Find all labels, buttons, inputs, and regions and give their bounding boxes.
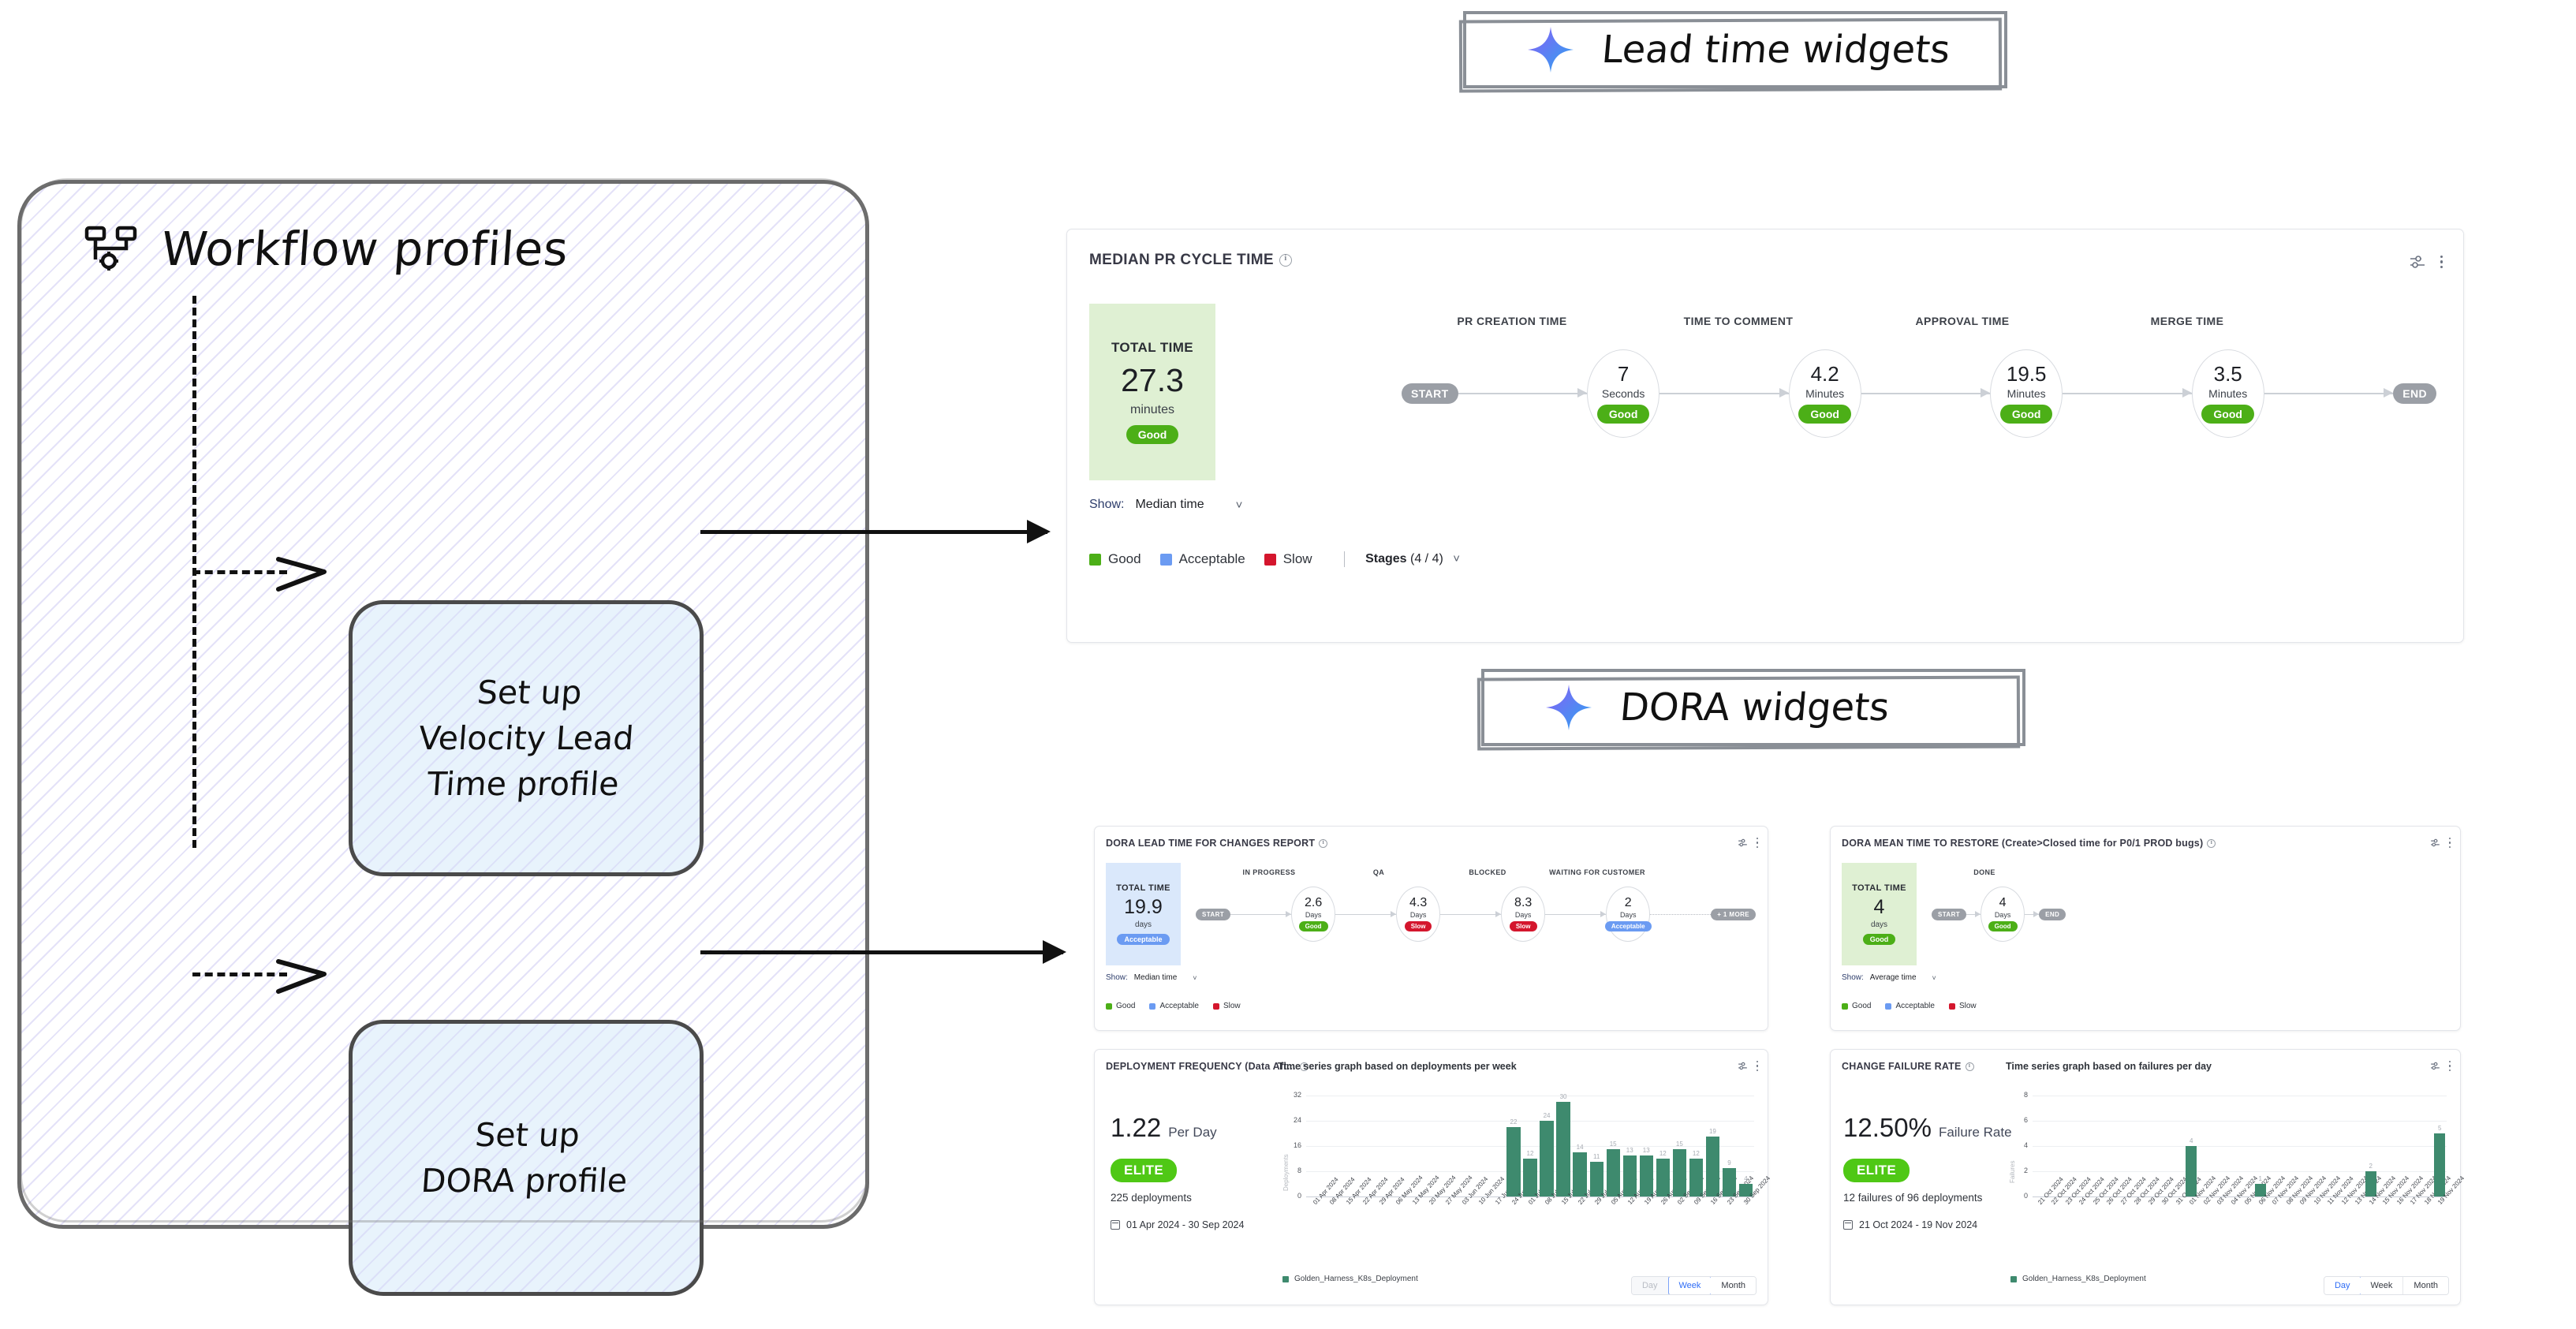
chart-bar-value: 11 [1593, 1153, 1600, 1160]
stage-status-badge: Slow [1405, 921, 1432, 931]
card-title-text: DORA LEAD TIME FOR CHANGES REPORT [1106, 838, 1315, 849]
show-selector[interactable]: Show: Median time ˅ [1106, 973, 1197, 982]
stage-status-badge: Acceptable [1605, 921, 1652, 931]
chart-bar-value: 9 [1727, 1159, 1730, 1167]
stage-value: 8.3 [1514, 897, 1532, 909]
card-title: CHANGE FAILURE RATE [1842, 1061, 1974, 1072]
show-label: Show: [1089, 498, 1124, 512]
sliders-icon[interactable] [2409, 253, 2426, 271]
chart-bar-value: 15 [1610, 1140, 1617, 1148]
stage-status-badge: Good [1597, 405, 1650, 424]
legend-label: Acceptable [1895, 1002, 1934, 1010]
card-header-actions [1738, 1061, 1758, 1071]
flow-connector [2264, 393, 2394, 394]
stage-value: 4.2 [1811, 364, 1839, 384]
change-failure-rate-chart: Failures 8642021 Oct 202422 Oct 202423 O… [2006, 1084, 2451, 1242]
chart-gridline [1306, 1146, 1754, 1147]
kebab-menu-icon[interactable] [2440, 256, 2443, 268]
chart-bar-value: 4 [1744, 1175, 1747, 1182]
profile-box-label: Set up Velocity Lead Time profile [414, 670, 639, 808]
legend-label: Acceptable [1179, 551, 1245, 567]
chevron-down-icon[interactable]: ˅ [1193, 974, 1197, 982]
sliders-icon[interactable] [1738, 838, 1748, 848]
status-legend: Good Acceptable Slow Stages (4 / 4) ˅ [1089, 551, 1460, 567]
chart-gridline [2033, 1171, 2447, 1172]
banner-label: Lead time widgets [1600, 28, 1952, 72]
arrow-head-2 [275, 950, 343, 998]
chart-ytick: 8 [2010, 1091, 2028, 1099]
sparkle-icon [1544, 683, 1593, 732]
calendar-icon [1843, 1220, 1853, 1230]
show-value: Median time [1135, 498, 1204, 512]
stages-toggle-count: (4 / 4) [1410, 552, 1443, 566]
chart-bar-value: 13 [1643, 1147, 1650, 1154]
stage-node-0[interactable]: 7 Seconds Good [1587, 349, 1659, 438]
chart-bar-value: 30 [1560, 1093, 1567, 1100]
stage-unit: Days [1995, 911, 2011, 919]
chart-ytick: 8 [1284, 1167, 1301, 1174]
performance-badge: ELITE [1111, 1159, 1177, 1182]
legend-swatch [1282, 1276, 1289, 1282]
card-title: DORA MEAN TIME TO RESTORE (Create>Closed… [1842, 838, 2216, 849]
date-range-text: 21 Oct 2024 - 19 Nov 2024 [1859, 1219, 1977, 1230]
legend-item-good: Good [1106, 1002, 1135, 1010]
connector-arrow-to-dora-widgets [700, 950, 1063, 954]
stage-unit: Days [1305, 911, 1322, 919]
chart-bar-value: 12 [1659, 1150, 1667, 1157]
workflow-profiles-panel: Workflow profiles Set up Velocity Lead T… [17, 180, 869, 1229]
range-button-week[interactable]: Week [2361, 1277, 2404, 1294]
legend-divider [1344, 551, 1346, 567]
chart-bar[interactable] [1556, 1102, 1570, 1196]
metric-unit: Per Day [1168, 1125, 1216, 1140]
chart-bar-value: 2 [2369, 1163, 2373, 1170]
stage-label-3: WAITING FOR CUSTOMER [1549, 868, 1645, 876]
chart-legend: Golden_Harness_K8s_Deployment [2010, 1275, 2146, 1283]
metric-failure-rate: 12.50% Failure Rate [1843, 1113, 2012, 1143]
chart-gridline [2033, 1146, 2447, 1147]
flow-connector-dotted [1650, 914, 1711, 915]
calendar-icon [1111, 1220, 1120, 1230]
info-icon[interactable] [2207, 839, 2216, 848]
change-failure-rate-card: CHANGE FAILURE RATE Time series graph ba… [1830, 1049, 2461, 1305]
card-title-text: DORA MEAN TIME TO RESTORE (Create>Closed… [1842, 838, 2203, 849]
stage-label-2: BLOCKED [1469, 868, 1506, 876]
stage-node-2[interactable]: 19.5 Minutes Good [1990, 349, 2063, 438]
flow-connector [1545, 914, 1606, 915]
chart-bar-value: 1 [2259, 1175, 2262, 1182]
total-time-value: 27.3 [1121, 362, 1184, 399]
flow-connector [1966, 914, 1981, 915]
stage-label-1: QA [1373, 868, 1384, 876]
chart-bar-value: 12 [1693, 1150, 1700, 1157]
dora-lead-time-card: DORA LEAD TIME FOR CHANGES REPORT TOTAL … [1094, 826, 1768, 1031]
start-terminal: START [1402, 383, 1458, 404]
total-time-box: TOTAL TIME 4 days Good [1842, 863, 1917, 965]
end-terminal: END [2393, 383, 2436, 404]
status-legend: Good Acceptable Slow [1106, 1002, 1247, 1010]
card-header-actions [1738, 838, 1758, 848]
chart-bar[interactable] [1706, 1137, 1719, 1196]
flow-connector [1230, 914, 1291, 915]
chart-bar-value: 12 [1527, 1150, 1534, 1157]
stage-node-0[interactable]: 4 Days Good [1981, 887, 2025, 942]
chart-bar[interactable] [1540, 1121, 1553, 1196]
chart-bar-value: 4 [2190, 1137, 2193, 1144]
stage-unit: Days [1620, 911, 1637, 919]
profile-box-dora[interactable]: Set up DORA profile [349, 1020, 704, 1296]
chart-bar-value: 5 [2438, 1125, 2441, 1132]
total-time-status-badge: Good [1126, 425, 1179, 444]
stage-unit: Minutes [2208, 387, 2247, 400]
stage-node-3[interactable]: 3.5 Minutes Good [2192, 349, 2264, 438]
chart-bar[interactable] [1623, 1155, 1637, 1196]
legend-swatch [1089, 554, 1101, 566]
chart-bar[interactable] [1640, 1155, 1653, 1196]
more-stages-chip[interactable]: + 1 MORE [1711, 909, 1756, 920]
stage-value: 4.3 [1409, 897, 1427, 909]
legend-label: Good [1852, 1002, 1871, 1010]
banner-lead-time-widgets: Lead time widgets [1463, 11, 2007, 88]
dashed-branch-line-2 [192, 972, 287, 976]
banner-dora-widgets: DORA widgets [1481, 669, 2025, 746]
stages-toggle[interactable]: Stages (4 / 4) ˅ [1365, 552, 1460, 566]
chart-ytick: 16 [1284, 1141, 1301, 1149]
stage-status-badge: Good [1988, 921, 2018, 931]
legend-swatch [1106, 1003, 1112, 1010]
deployment-count-note: 225 deployments [1111, 1192, 1192, 1204]
banner-label: DORA widgets [1618, 685, 1891, 730]
total-time-unit: days [1135, 920, 1152, 929]
total-time-value: 19.9 [1124, 896, 1163, 919]
stage-unit: Days [1515, 911, 1532, 919]
arrow-head-1 [275, 548, 343, 595]
info-icon[interactable] [1279, 254, 1292, 267]
chart-bar-value: 24 [1544, 1112, 1551, 1119]
chart-bar-value: 22 [1510, 1118, 1518, 1126]
total-time-box: TOTAL TIME 19.9 days Acceptable [1106, 863, 1181, 965]
stage-label-0: IN PROGRESS [1243, 868, 1296, 876]
stage-node-2[interactable]: 8.3 Days Slow [1501, 887, 1545, 942]
legend-series-name: Golden_Harness_K8s_Deployment [1294, 1275, 1418, 1283]
flow-connector [1861, 393, 1991, 394]
show-value: Average time [1870, 973, 1917, 982]
stage-value: 3.5 [2214, 364, 2242, 384]
chart-subtitle: Time series graph based on deployments p… [1278, 1061, 1517, 1072]
legend-swatch [2010, 1276, 2017, 1282]
show-label: Show: [1106, 973, 1128, 982]
card-title: DORA LEAD TIME FOR CHANGES REPORT [1106, 838, 1327, 849]
info-icon[interactable] [1319, 839, 1327, 848]
legend-item-slow: Slow [1949, 1002, 1977, 1010]
profile-box-velocity-lead-time[interactable]: Set up Velocity Lead Time profile [349, 600, 704, 876]
legend-item-acceptable: Acceptable [1149, 1002, 1198, 1010]
total-time-box: TOTAL TIME 27.3 minutes Good [1089, 304, 1215, 480]
legend-swatch [1213, 1003, 1219, 1010]
stage-status-badge: Good [2201, 405, 2254, 424]
total-time-status-badge: Good [1863, 934, 1896, 945]
failure-count-note: 12 failures of 96 deployments [1843, 1192, 1982, 1204]
flow-connector [2063, 393, 2192, 394]
stage-flow: START 2.6 Days Good 4.3 Days Slow 8.3 Da… [1196, 887, 1756, 942]
deployment-frequency-card: DEPLOYMENT FREQUENCY (Data Aft... Time s… [1094, 1049, 1768, 1305]
stage-unit: Minutes [2007, 387, 2046, 400]
chart-ytick: 0 [1284, 1192, 1301, 1200]
kebab-menu-icon[interactable] [1757, 838, 1758, 848]
stage-value: 19.5 [2007, 364, 2047, 384]
stage-unit: Minutes [1805, 387, 1844, 400]
stage-status-badge: Good [2000, 405, 2053, 424]
total-time-label: TOTAL TIME [1116, 883, 1170, 893]
show-label: Show: [1842, 973, 1864, 982]
chart-gridline [2033, 1121, 2447, 1122]
kebab-menu-icon[interactable] [2449, 1061, 2451, 1071]
chart-bar[interactable] [1673, 1149, 1686, 1196]
legend-swatch [1160, 554, 1172, 566]
chart-bar[interactable] [2434, 1133, 2445, 1196]
total-time-status-badge: Acceptable [1117, 934, 1169, 945]
median-pr-cycle-time-card: MEDIAN PR CYCLE TIME TOTAL TIME 27.3 min… [1066, 229, 2464, 643]
total-time-label: TOTAL TIME [1111, 340, 1193, 356]
sliders-icon[interactable] [2430, 1061, 2440, 1071]
card-title-text: MEDIAN PR CYCLE TIME [1089, 252, 1274, 268]
legend-label: Good [1108, 551, 1141, 567]
chart-legend: Golden_Harness_K8s_Deployment [1282, 1275, 1418, 1283]
stage-value: 7 [1618, 364, 1629, 384]
stage-value: 4 [1999, 897, 2007, 909]
info-icon[interactable] [1966, 1062, 1974, 1071]
dora-mttr-card: DORA MEAN TIME TO RESTORE (Create>Closed… [1830, 826, 2461, 1031]
chart-bar-value: 19 [1709, 1128, 1716, 1135]
total-time-label: TOTAL TIME [1852, 883, 1906, 893]
metric-deployment-rate: 1.22 Per Day [1111, 1113, 1217, 1143]
stage-value: 2 [1625, 897, 1632, 909]
legend-item-acceptable: Acceptable [1160, 551, 1245, 567]
chart-subtitle: Time series graph based on failures per … [2006, 1061, 2212, 1072]
chart-bar-value: 13 [1626, 1147, 1633, 1154]
sliders-icon[interactable] [1738, 1061, 1748, 1071]
stage-label-2: APPROVAL TIME [1915, 315, 2009, 327]
stage-unit: Days [1410, 911, 1427, 919]
card-header-actions [2409, 253, 2443, 271]
flow-connector [1440, 914, 1501, 915]
connector-arrow-to-lead-time-widgets [700, 530, 1047, 534]
chart-ytick: 32 [1284, 1091, 1301, 1099]
total-time-unit: minutes [1130, 403, 1174, 417]
performance-badge: ELITE [1843, 1159, 1910, 1182]
chart-gridline [1306, 1121, 1754, 1122]
workflow-gear-icon [84, 225, 141, 274]
start-terminal: START [1196, 909, 1230, 920]
chart-bar-value: 15 [1676, 1140, 1683, 1148]
stage-flow: START 4 Days Good END [1932, 887, 2058, 942]
stage-unit: Seconds [1602, 387, 1645, 400]
range-button-day[interactable]: Day [1632, 1277, 1669, 1294]
stage-node-1[interactable]: 4.2 Minutes Good [1789, 349, 1861, 438]
date-range: 01 Apr 2024 - 30 Sep 2024 [1111, 1219, 1244, 1230]
legend-label: Good [1116, 1002, 1135, 1010]
stage-value: 2.6 [1305, 897, 1322, 909]
legend-item-good: Good [1089, 551, 1141, 567]
flow-connector [1458, 393, 1588, 394]
legend-item-slow: Slow [1264, 551, 1312, 567]
range-button-day[interactable]: Day [2324, 1276, 2361, 1295]
profile-box-label: Set up DORA profile [420, 1112, 632, 1204]
legend-item-good: Good [1842, 1002, 1871, 1010]
chart-ytick: 24 [1284, 1116, 1301, 1124]
chart-bar[interactable] [1573, 1152, 1586, 1196]
flow-connector [1659, 393, 1789, 394]
stage-node-0[interactable]: 2.6 Days Good [1291, 887, 1335, 942]
stage-label-3: MERGE TIME [2151, 315, 2224, 327]
sliders-icon[interactable] [2430, 838, 2440, 848]
start-terminal: START [1932, 909, 1966, 920]
chevron-down-icon[interactable]: ˅ [1453, 552, 1460, 566]
total-time-unit: days [1871, 920, 1887, 929]
show-value: Median time [1134, 973, 1177, 982]
legend-label: Slow [1223, 1002, 1241, 1010]
panel-title: Workflow profiles [160, 222, 570, 276]
chart-bar[interactable] [1607, 1149, 1620, 1196]
legend-series-name: Golden_Harness_K8s_Deployment [2022, 1275, 2146, 1283]
legend-swatch [1264, 554, 1276, 566]
card-header-actions [2430, 1061, 2451, 1071]
show-selector[interactable]: Show: Average time ˅ [1842, 973, 1936, 982]
range-button-week[interactable]: Week [1668, 1276, 1712, 1295]
deployment-frequency-chart: Deployments 3224168001 Apr 202408 Apr 20… [1278, 1084, 1759, 1242]
chart-bar[interactable] [1506, 1127, 1520, 1196]
flow-connector [1335, 914, 1396, 915]
chart-ytick: 2 [2010, 1167, 2028, 1174]
metric-unit: Failure Rate [1939, 1125, 2012, 1140]
kebab-menu-icon[interactable] [2449, 838, 2451, 848]
total-time-value: 4 [1874, 896, 1885, 919]
legend-label: Slow [1959, 1002, 1977, 1010]
chart-ytick: 4 [2010, 1141, 2028, 1149]
sparkle-icon [1526, 25, 1575, 74]
chart-bar[interactable] [2186, 1146, 2197, 1196]
stages-toggle-label: Stages [1365, 552, 1406, 566]
chart-ytick: 6 [2010, 1116, 2028, 1124]
legend-label: Acceptable [1159, 1002, 1198, 1010]
card-title-text: CHANGE FAILURE RATE [1842, 1061, 1962, 1072]
range-button-month[interactable]: Month [1711, 1277, 1756, 1294]
stage-node-3[interactable]: 2 Days Acceptable [1606, 887, 1650, 942]
date-range: 21 Oct 2024 - 19 Nov 2024 [1843, 1219, 1977, 1230]
chevron-down-icon[interactable]: ˅ [1932, 974, 1936, 982]
range-toggle-group[interactable]: Day Week Month [1631, 1276, 1757, 1295]
dashed-branch-line-1 [192, 570, 287, 574]
legend-label: Slow [1283, 551, 1312, 567]
legend-swatch [1842, 1003, 1848, 1010]
stage-label-0: PR CREATION TIME [1457, 315, 1566, 327]
chevron-down-icon[interactable]: ˅ [1236, 498, 1243, 512]
show-selector[interactable]: Show: Median time ˅ [1089, 498, 1242, 512]
stage-node-1[interactable]: 4.3 Days Slow [1396, 887, 1440, 942]
card-title-text: DEPLOYMENT FREQUENCY (Data Aft... [1106, 1061, 1296, 1072]
stage-status-badge: Good [1299, 921, 1328, 931]
kebab-menu-icon[interactable] [1757, 1061, 1758, 1071]
range-toggle-group[interactable]: Day Week Month [2324, 1276, 2449, 1295]
status-legend: Good Acceptable Slow [1842, 1002, 1983, 1010]
legend-swatch [1885, 1003, 1891, 1010]
flow-connector [2025, 914, 2039, 915]
stage-status-badge: Good [1798, 405, 1851, 424]
legend-swatch [1149, 1003, 1155, 1010]
chart-gridline [2033, 1096, 2447, 1096]
legend-swatch [1949, 1003, 1955, 1010]
card-title: MEDIAN PR CYCLE TIME [1089, 252, 1292, 269]
stage-flow: START 7 Seconds Good 4.2 Minutes Good 19… [1402, 349, 2436, 438]
metric-value: 1.22 [1111, 1113, 1161, 1143]
screenshot-root: Workflow profiles Set up Velocity Lead T… [0, 0, 2576, 1329]
chart-bar-value: 14 [1577, 1144, 1584, 1151]
stage-status-badge: Slow [1510, 921, 1537, 931]
date-range-text: 01 Apr 2024 - 30 Sep 2024 [1126, 1219, 1244, 1230]
card-header-actions [2430, 838, 2451, 848]
end-terminal: END [2039, 909, 2066, 920]
range-button-month[interactable]: Month [2403, 1277, 2448, 1294]
legend-item-slow: Slow [1213, 1002, 1241, 1010]
workflow-profiles-header: Workflow profiles [84, 222, 568, 276]
chart-gridline [1306, 1096, 1754, 1096]
legend-item-acceptable: Acceptable [1885, 1002, 1934, 1010]
metric-value: 12.50% [1843, 1113, 1932, 1143]
stage-label-0: DONE [1973, 868, 1995, 876]
chart-ytick: 0 [2010, 1192, 2028, 1200]
stage-label-1: TIME TO COMMENT [1684, 315, 1794, 327]
